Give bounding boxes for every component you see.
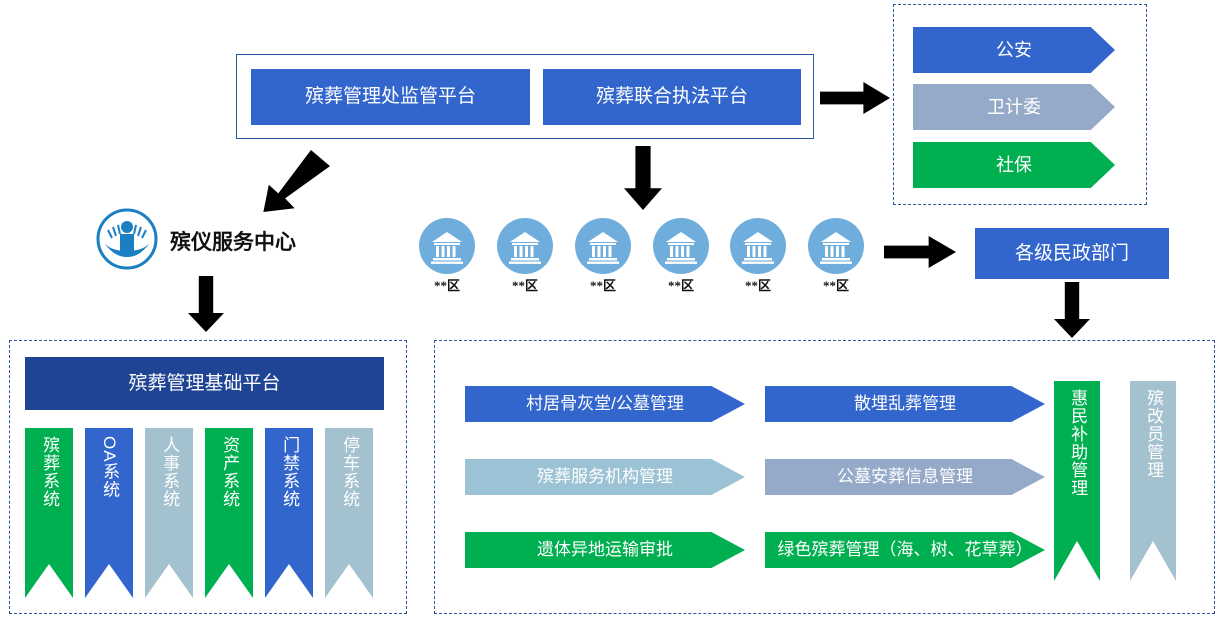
diagram-canvas: 殡葬管理处监管平台 殡葬联合执法平台 公安 卫计委 社保 xyxy=(0,0,1223,624)
base-platform-header-label: 殡葬管理基础平台 xyxy=(128,373,280,395)
arrow-banner-to-districts-icon xyxy=(624,146,662,210)
district-label-1: **区 xyxy=(434,275,460,294)
service-center-label: 殡仪服务中心 xyxy=(170,226,296,256)
district-label-2: **区 xyxy=(512,275,538,294)
business-green-funeral[interactable]: 绿色殡葬管理（海、树、花草葬） xyxy=(765,532,1045,568)
district-label-3: **区 xyxy=(590,275,616,294)
platform-supervision-box[interactable]: 殡葬管理处监管平台 xyxy=(251,69,530,125)
platform-supervision-label: 殡葬管理处监管平台 xyxy=(305,86,476,108)
government-building-icon xyxy=(575,218,631,274)
agency-public-security-label: 公安 xyxy=(996,40,1032,61)
system-ribbon-access-control-label: 门禁系统 xyxy=(280,428,298,508)
district-item-2[interactable]: **区 xyxy=(497,218,553,294)
business-funeral-service-org[interactable]: 殡葬服务机构管理 xyxy=(465,459,745,495)
business-scattered-burial-label: 散埋乱葬管理 xyxy=(854,394,956,414)
business-green-funeral-label: 绿色殡葬管理（海、树、花草葬） xyxy=(778,540,1033,560)
arrow-civil-affairs-to-business-panel-icon xyxy=(1054,282,1090,338)
civil-affairs-logo-icon xyxy=(96,208,158,270)
system-ribbon-oa-label: OA系统 xyxy=(100,428,118,499)
government-building-icon xyxy=(497,218,553,274)
business-funeral-service-org-label: 殡葬服务机构管理 xyxy=(537,467,673,487)
district-item-1[interactable]: **区 xyxy=(419,218,475,294)
base-platform-header[interactable]: 殡葬管理基础平台 xyxy=(25,357,384,410)
government-building-icon xyxy=(653,218,709,274)
district-label-6: **区 xyxy=(823,275,849,294)
agency-social-security-label: 社保 xyxy=(996,155,1032,176)
agency-public-security[interactable]: 公安 xyxy=(913,27,1115,73)
civil-affairs-box[interactable]: 各级民政部门 xyxy=(975,228,1169,279)
business-body-transport-approval-label: 遗体异地运输审批 xyxy=(537,540,673,560)
business-village-ossuary-cemetery-label: 村居骨灰堂/公墓管理 xyxy=(526,394,684,414)
district-item-6[interactable]: **区 xyxy=(808,218,864,294)
system-ribbon-hr-label: 人事系统 xyxy=(160,428,178,508)
arrow-service-center-to-base-platform-icon xyxy=(188,276,224,332)
government-building-icon xyxy=(808,218,864,274)
business-cemetery-burial-info[interactable]: 公墓安葬信息管理 xyxy=(765,459,1045,495)
system-ribbon-parking-label: 停车系统 xyxy=(340,428,358,508)
business-scattered-burial[interactable]: 散埋乱葬管理 xyxy=(765,386,1045,422)
business-cemetery-burial-info-label: 公墓安葬信息管理 xyxy=(837,467,973,487)
service-center-group[interactable]: 殡仪服务中心 xyxy=(96,208,336,270)
arrow-districts-to-civil-affairs-icon xyxy=(884,236,956,268)
district-item-3[interactable]: **区 xyxy=(575,218,631,294)
district-label-4: **区 xyxy=(668,275,694,294)
agency-health-family-planning-label: 卫计委 xyxy=(987,97,1041,118)
government-building-icon xyxy=(419,218,475,274)
system-ribbon-funeral-label: 殡葬系统 xyxy=(40,428,58,508)
civil-affairs-label: 各级民政部门 xyxy=(1015,243,1129,265)
arrow-banner-to-service-center-icon xyxy=(262,150,330,212)
platform-joint-enforcement-box[interactable]: 殡葬联合执法平台 xyxy=(543,69,801,125)
government-building-icon xyxy=(730,218,786,274)
agency-social-security[interactable]: 社保 xyxy=(913,142,1115,188)
district-item-4[interactable]: **区 xyxy=(653,218,709,294)
system-ribbon-assets-label: 资产系统 xyxy=(220,428,238,508)
business-ribbon-reform-officer-label: 殡改员管理 xyxy=(1144,381,1162,479)
agency-health-family-planning[interactable]: 卫计委 xyxy=(913,84,1115,130)
district-label-5: **区 xyxy=(745,275,771,294)
arrow-banner-to-agencies-icon xyxy=(820,82,890,114)
platform-joint-enforcement-label: 殡葬联合执法平台 xyxy=(596,86,748,108)
district-item-5[interactable]: **区 xyxy=(730,218,786,294)
business-ribbon-benefit-subsidy-label: 惠民补助管理 xyxy=(1068,381,1086,497)
business-village-ossuary-cemetery[interactable]: 村居骨灰堂/公墓管理 xyxy=(465,386,745,422)
business-body-transport-approval[interactable]: 遗体异地运输审批 xyxy=(465,532,745,568)
